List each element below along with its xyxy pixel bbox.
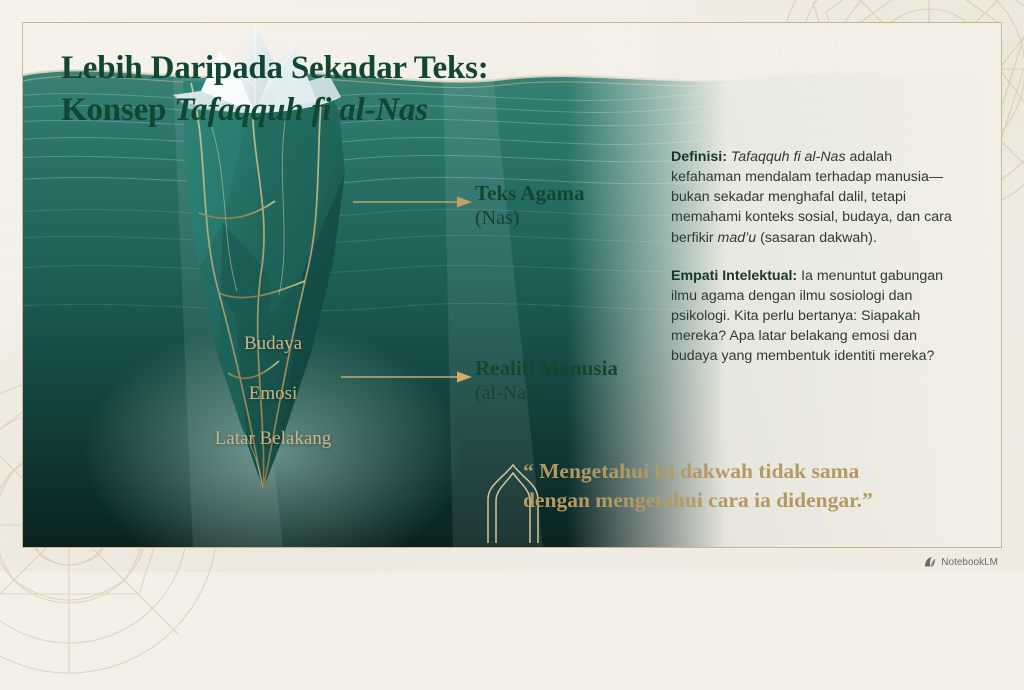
text-column: Definisi: Tafaqquh fi al-Nas adalah kefa… <box>671 147 963 385</box>
callout-realiti-manusia: Realiti Manusia (al-Nas) <box>475 356 618 405</box>
paragraph-empati: Empati Intelektual: Ia menuntut gabungan… <box>671 266 963 367</box>
callout-sublabel-al-nas: (al-Nas) <box>475 381 618 405</box>
callout-teks-agama: Teks Agama (Nas) <box>475 181 585 230</box>
infographic-canvas: Budaya Emosi Latar Belakang Lebih Daripa… <box>0 0 1024 572</box>
quote-line-1: “ Mengetahui isi dakwah tidak sama <box>523 457 971 486</box>
title-konsep-prefix: Konsep <box>61 92 174 128</box>
paragraph-definisi: Definisi: Tafaqquh fi al-Nas adalah kefa… <box>671 147 963 248</box>
title-tafaqquh-italic: Tafaqquh fi al-Nas <box>174 92 428 128</box>
paragraph-empati-lead: Empati Intelektual: <box>671 268 797 284</box>
title-line-1: Lebih Daripada Sekadar Teks: <box>61 47 489 89</box>
pull-quote: “ Mengetahui isi dakwah tidak sama denga… <box>523 457 971 515</box>
watermark-label: NotebookLM <box>941 557 998 568</box>
paragraph-definisi-lead: Definisi: <box>671 149 727 165</box>
decorative-frame: Budaya Emosi Latar Belakang Lebih Daripa… <box>22 22 1002 548</box>
arrow-right-icon-bottom <box>341 370 473 384</box>
notebooklm-logo-icon <box>924 556 936 568</box>
callout-sublabel-nas: (Nas) <box>475 206 585 230</box>
callout-label-teks-agama: Teks Agama <box>475 181 585 206</box>
title-line-2: Konsep Tafaqquh fi al-Nas <box>61 89 489 131</box>
callout-label-realiti-manusia: Realiti Manusia <box>475 356 618 381</box>
paragraph-definisi-italic: Tafaqquh fi al-Nas <box>731 149 846 165</box>
quote-line-2: dengan mengetahui cara ia didengar.” <box>523 486 971 515</box>
paragraph-definisi-italic2: mad’u <box>718 230 757 246</box>
page-title: Lebih Daripada Sekadar Teks: Konsep Tafa… <box>61 47 489 131</box>
paragraph-definisi-tail: (sasaran dakwah). <box>756 230 877 246</box>
watermark: NotebookLM <box>924 556 998 568</box>
arrow-right-icon-top <box>353 195 473 209</box>
